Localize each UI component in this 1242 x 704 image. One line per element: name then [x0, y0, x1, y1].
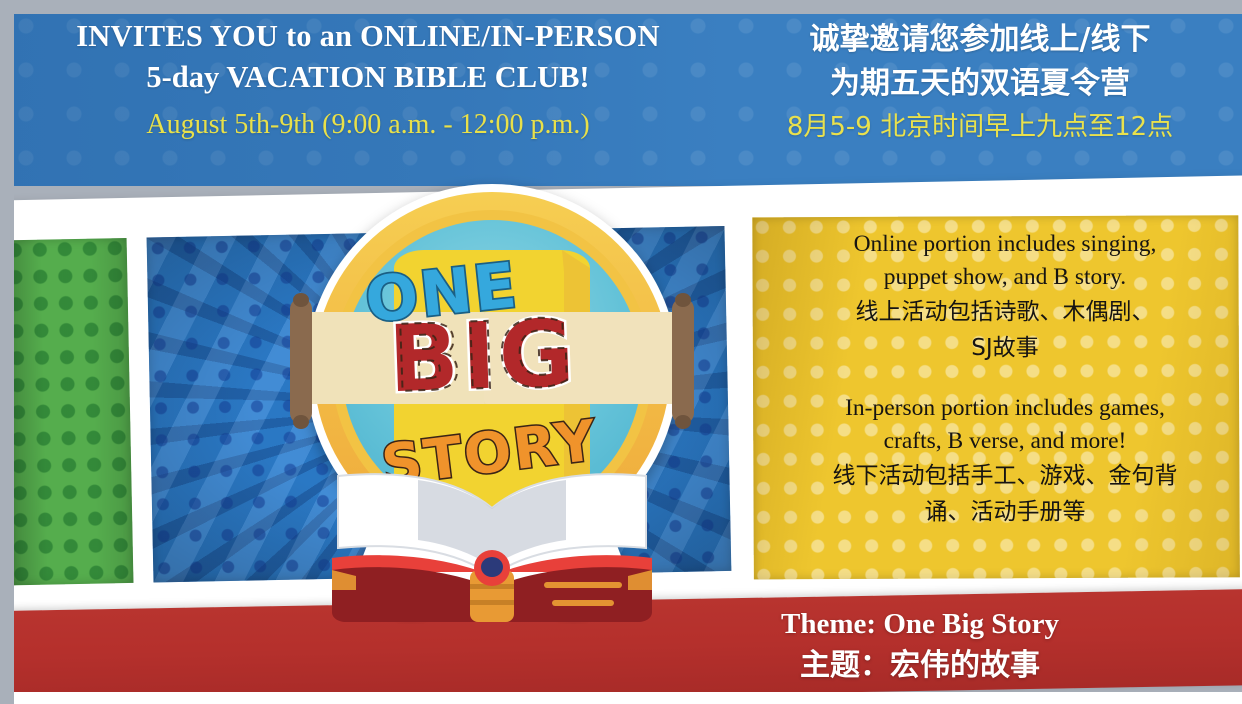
book-gem: [481, 557, 503, 577]
online-en-line1: Online portion includes singing,: [790, 228, 1220, 261]
header-dates-en: August 5th-9th (9:00 a.m. - 12:00 p.m.): [18, 102, 718, 148]
header-line1-en: INVITES YOU to an ONLINE/IN-PERSON: [18, 16, 718, 56]
canvas-top-edge: [0, 0, 1242, 14]
details-spacer: [790, 366, 1220, 392]
inperson-en-line2: crafts, B verse, and more!: [790, 425, 1220, 458]
one-big-story-logo: ONE BIG BIG STORY: [276, 172, 708, 624]
green-vignette: [5, 238, 134, 585]
footer-theme-block: Theme: One Big Story 主题：宏伟的故事: [660, 604, 1180, 688]
theme-label-en: Theme: One Big Story: [660, 604, 1180, 644]
inperson-cn-line2: 诵、活动手册等: [790, 494, 1220, 530]
online-cn-line2: SJ故事: [790, 330, 1220, 366]
header-line2-cn: 为期五天的双语夏令营: [730, 62, 1230, 106]
header-english-block: INVITES YOU to an ONLINE/IN-PERSON 5-day…: [18, 16, 718, 148]
canvas-bottom-strip: [0, 692, 1242, 704]
flyer-canvas: INVITES YOU to an ONLINE/IN-PERSON 5-day…: [0, 0, 1242, 704]
online-en-line2: puppet show, and B story.: [790, 261, 1220, 294]
details-text-block: Online portion includes singing, puppet …: [790, 228, 1220, 530]
header-chinese-block: 诚挚邀请您参加线上/线下 为期五天的双语夏令营 8月5-9 北京时间早上九点至1…: [730, 18, 1230, 148]
header-line1-cn: 诚挚邀请您参加线上/线下: [730, 18, 1230, 62]
panel-green-dots: [5, 238, 134, 585]
header-dates-cn: 8月5-9 北京时间早上九点至12点: [730, 106, 1230, 148]
inperson-en-line1: In-person portion includes games,: [790, 392, 1220, 425]
header-line2-en: 5-day VACATION BIBLE CLUB!: [18, 56, 718, 98]
logo-word-big-stitch: BIG: [391, 300, 574, 413]
inperson-cn-line1: 线下活动包括手工、游戏、金句背: [790, 458, 1220, 494]
canvas-left-edge: [0, 0, 14, 704]
online-cn-line1: 线上活动包括诗歌、木偶剧、: [790, 294, 1220, 330]
theme-label-cn: 主题：宏伟的故事: [660, 644, 1180, 688]
